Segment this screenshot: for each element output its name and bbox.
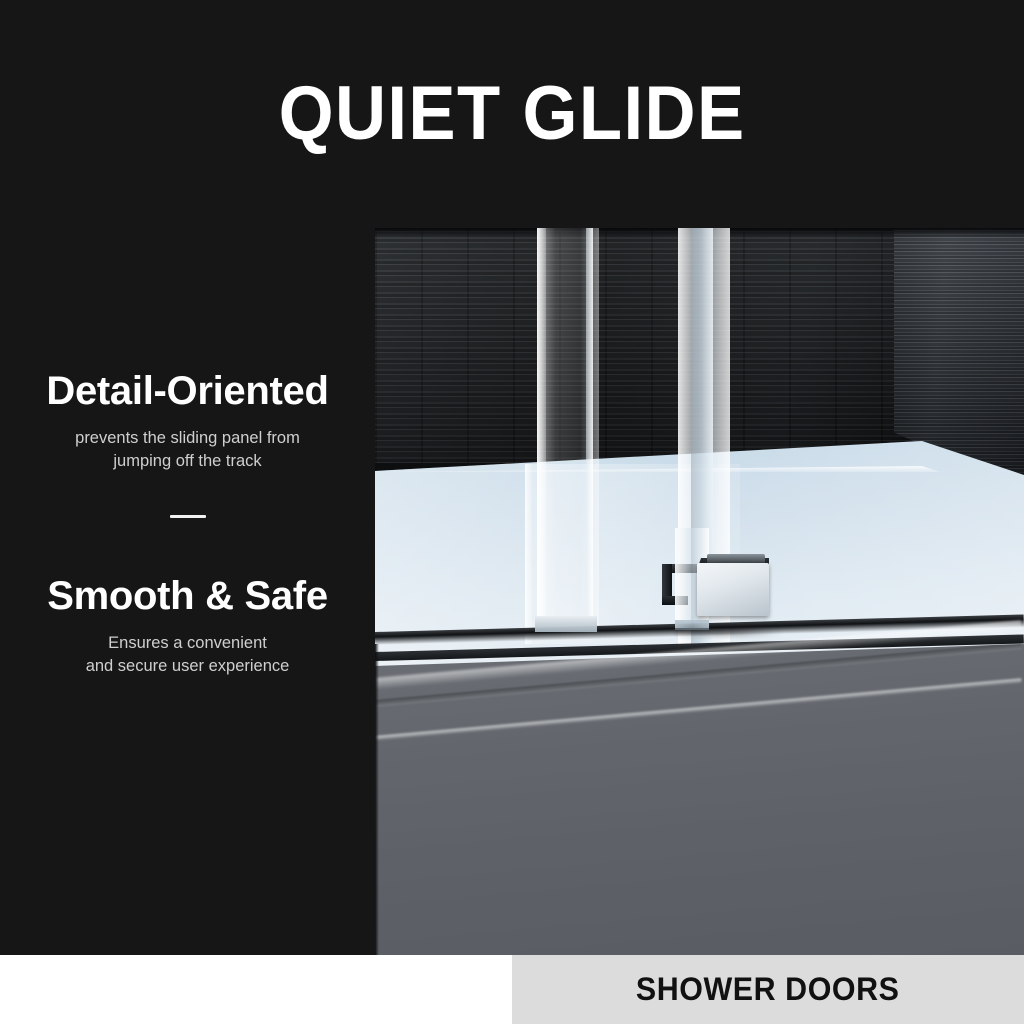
- feature-body: Ensures a convenient and secure user exp…: [0, 632, 375, 679]
- footer-bar: SHOWER DOORS: [0, 955, 1024, 1024]
- bracket-glass-bottom: [675, 620, 709, 630]
- brand-plate: SHOWER DOORS: [512, 955, 1024, 1024]
- feature-body-line: jumping off the track: [113, 452, 261, 470]
- header-banner: QUIET GLIDE: [0, 0, 1024, 228]
- section-divider: [170, 515, 206, 518]
- feature-body: prevents the sliding panel from jumping …: [0, 427, 375, 474]
- anti-jump-bracket-cap: [707, 554, 765, 563]
- feature-block-smooth-safe: Smooth & Safe Ensures a convenient and s…: [0, 576, 375, 678]
- stacked-stone-wall-back: [375, 228, 950, 463]
- feature-body-line: and secure user experience: [86, 657, 290, 675]
- glass-panel-lower-edge: [525, 464, 532, 644]
- page-title: QUIET GLIDE: [279, 76, 746, 152]
- feature-text-panel: Detail-Oriented prevents the sliding pan…: [0, 228, 375, 1024]
- feature-body-line: prevents the sliding panel from: [75, 429, 300, 447]
- brand-label: SHOWER DOORS: [636, 971, 900, 1008]
- product-photo: [375, 228, 1024, 955]
- feature-block-detail-oriented: Detail-Oriented prevents the sliding pan…: [0, 371, 375, 473]
- feature-title: Detail-Oriented: [0, 371, 375, 413]
- feature-body-line: Ensures a convenient: [108, 634, 267, 652]
- glass-panel-bottom-shoe: [535, 616, 597, 632]
- feature-title: Smooth & Safe: [0, 576, 375, 618]
- anti-jump-bracket-body: [697, 563, 769, 616]
- product-feature-poster: QUIET GLIDE Detail-Oriented prevents the…: [0, 0, 1024, 1024]
- bathtub-apron-edge: [375, 644, 379, 955]
